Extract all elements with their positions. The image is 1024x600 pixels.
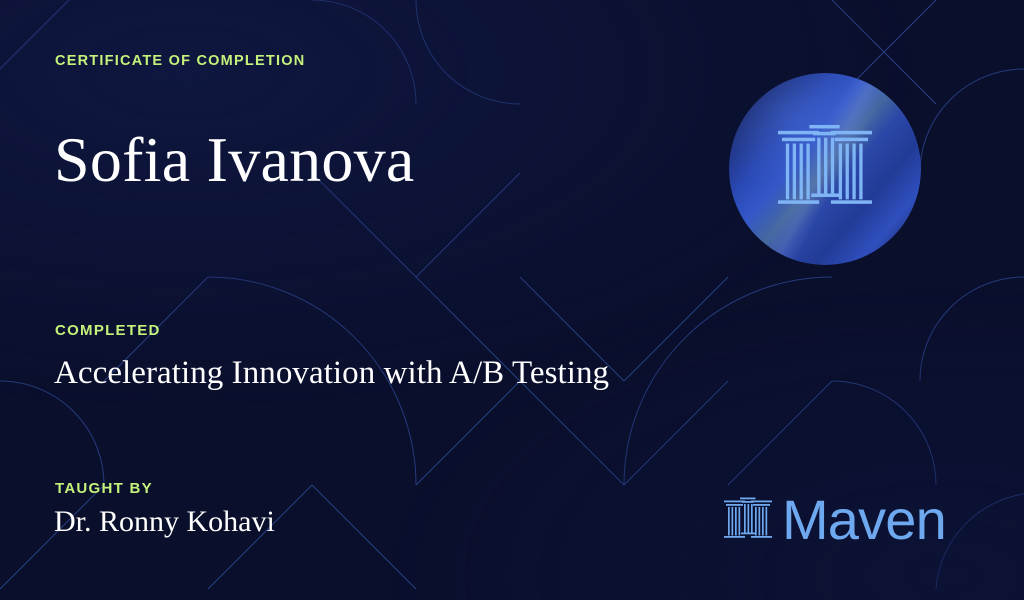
maven-wordmark-text: Maven [782,492,946,548]
certificate-card: CERTIFICATE OF COMPLETION Sofia Ivanova … [0,0,1024,600]
instructor-name: Dr. Ronny Kohavi [54,505,275,540]
course-title: Accelerating Innovation with A/B Testing [54,355,609,393]
certificate-eyebrow-label: CERTIFICATE OF COMPLETION [55,53,305,69]
maven-pillars-icon [724,495,772,545]
completed-label: COMPLETED [55,322,161,339]
maven-logo[interactable]: Maven [724,492,946,548]
recipient-name: Sofia Ivanova [54,126,415,193]
taught-by-label: TAUGHT BY [55,480,153,497]
